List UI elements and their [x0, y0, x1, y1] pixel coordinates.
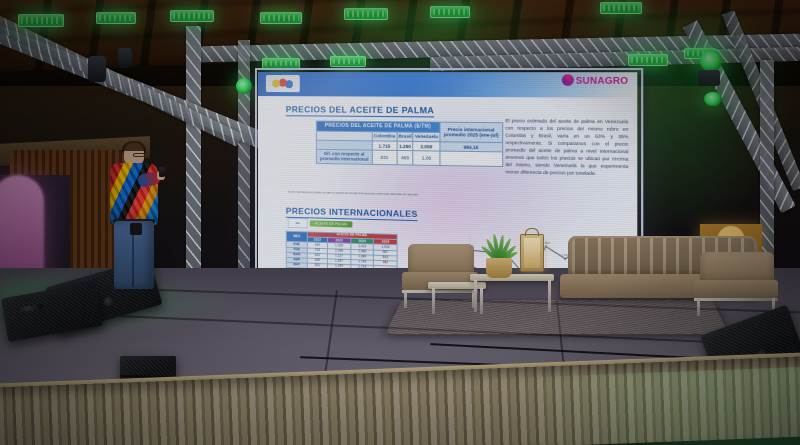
- led-strip-light-3: [170, 10, 214, 22]
- coffee-table-right: [470, 274, 554, 281]
- led-strip-light-2: [96, 12, 136, 24]
- armchair-left: [402, 244, 478, 306]
- stage-skirt-green-light: [519, 366, 800, 445]
- armchair-right: [694, 252, 778, 314]
- palm-table-note: Fuente: Estimaciones propias con base en…: [288, 191, 506, 199]
- moving-head-light-left: [88, 56, 106, 82]
- palm-row1-brasil: 1.250: [397, 141, 413, 151]
- palm-table-col-venezuela: Venezuela: [413, 132, 439, 142]
- led-strip-light-5: [344, 8, 388, 20]
- palm-row2-avg: [440, 151, 503, 166]
- led-strip-light-6: [430, 6, 470, 18]
- led-strip-light-10: [628, 54, 668, 66]
- presenter-glasses: [133, 153, 145, 157]
- palm-table-avg-header: Precio internacional promedio 2025 (ene-…: [440, 122, 503, 142]
- intl-section-logo: SA: [288, 218, 308, 229]
- coffee-table-left: [428, 282, 486, 289]
- sunagro-logo: SUNAGRO: [561, 74, 628, 86]
- presenter-speaker: [104, 143, 164, 293]
- led-strip-light-7: [600, 2, 642, 14]
- intl-section-badge: ACEITE DE PALMA: [310, 220, 352, 227]
- slide-analysis-paragraph: El precio estimado del aceite de palma e…: [505, 118, 628, 178]
- intl-col-mes: MES: [286, 231, 307, 242]
- palm-row2-colombia: 831: [372, 150, 397, 165]
- potted-plant-foliage: [476, 226, 522, 262]
- presenter-belt-pouch: [130, 223, 142, 235]
- slide-section-title-1: PRECIOS DEL ACEITE DE PALMA: [286, 104, 434, 117]
- truss-vertical-right: [760, 60, 774, 260]
- green-spotlight-2: [700, 50, 722, 72]
- stage-presentation-scene: SUNAGRO PRECIOS DEL ACEITE DE PALMA PREC…: [0, 0, 800, 445]
- palm-table-col-colombia: Colombia: [372, 131, 397, 141]
- truss-tower-left: [186, 26, 201, 276]
- plant-pot: [486, 258, 512, 278]
- light-fixture-body-2: [118, 48, 132, 68]
- decorative-lantern: [520, 234, 544, 272]
- institutional-logo: [266, 75, 300, 92]
- presenter-mobile-phone: [159, 167, 165, 177]
- palm-table-col-brasil: Brasil: [397, 132, 413, 142]
- palm-oil-price-table: PRECIOS DEL ACEITE DE PALMA ($/TM) Preci…: [316, 121, 503, 168]
- led-strip-light-1: [18, 14, 64, 27]
- palm-row2-brasil: 459: [397, 151, 413, 165]
- palm-row1-colombia: 1.715: [372, 141, 397, 151]
- sunagro-mark-icon: [561, 74, 573, 86]
- armchair-right-seat: [694, 280, 778, 298]
- sunagro-label: SUNAGRO: [576, 75, 629, 86]
- green-spotlight-1: [236, 78, 252, 94]
- light-fixture-body-1: [698, 70, 720, 86]
- truss-tower-left-secondary: [238, 40, 250, 276]
- palm-row2-label: Dif. con respecto al promedio internacio…: [316, 150, 372, 165]
- table-row: Dif. con respecto al promedio internacio…: [316, 150, 502, 167]
- green-spotlight-3: [704, 92, 722, 106]
- led-strip-light-4: [260, 12, 302, 24]
- palm-row1-venezuela: 2.050: [413, 141, 439, 151]
- palm-row2-venezuela: 1,06: [413, 151, 439, 166]
- led-strip-light-9: [330, 56, 366, 67]
